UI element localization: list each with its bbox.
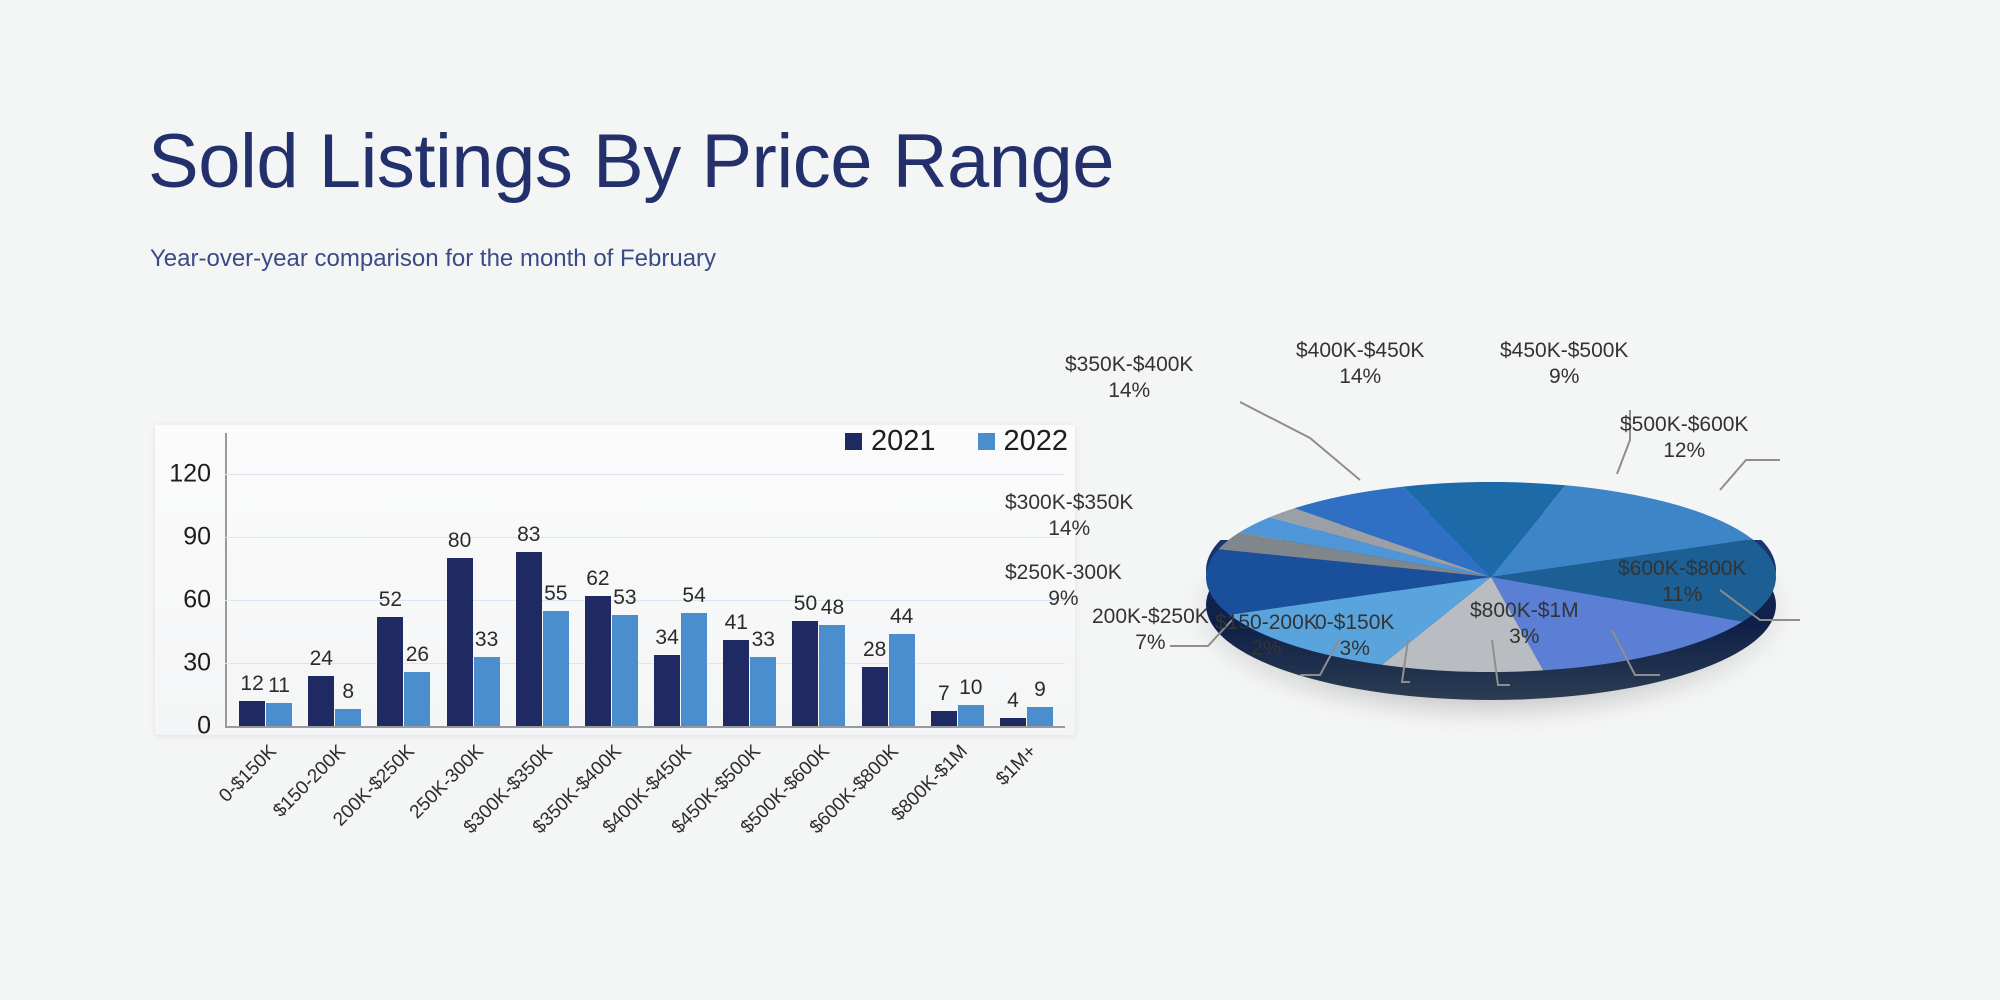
bar-2022[interactable]: 33 [474,657,500,726]
bar-group: 5226 [369,443,438,726]
bar-chart-plot-area: 0306090120 12112485226803383556253345441… [225,443,1065,728]
legend-item-2021[interactable]: 2021 [845,425,936,458]
bar-value-label: 53 [613,586,636,610]
pie-slice-label-name: $350K-$400K [1065,353,1193,376]
bar-2022[interactable]: 9 [1027,707,1053,726]
bar-2021[interactable]: 83 [516,552,542,726]
bar-2021[interactable]: 28 [862,667,888,726]
pie-slice-label-percent: 14% [1296,364,1424,390]
bar-value-label: 54 [682,584,705,608]
bar-value-label: 62 [586,567,609,591]
bar-value-label: 52 [379,588,402,612]
bar-2022[interactable]: 48 [819,625,845,726]
slide-canvas: Sold Listings By Price Range Year-over-y… [0,0,2000,1000]
pie-slice-label-percent: 11% [1618,582,1746,608]
bar-2021[interactable]: 62 [585,596,611,726]
x-axis-label-cell: $1M+ [992,735,1061,855]
bar-group: 8033 [439,443,508,726]
pie-slice-label-name: $800K-$1M [1470,599,1579,622]
bar-2022[interactable]: 10 [958,705,984,726]
pie-slice-label-name: $250K-300K [1005,561,1122,584]
pie-slice-label: $600K-$800K11% [1618,556,1746,608]
pie-slice-label-percent: 3% [1470,624,1579,650]
bar-2021[interactable]: 4 [1000,718,1026,726]
bar-group: 6253 [577,443,646,726]
page-title: Sold Listings By Price Range [148,118,1114,206]
bar-group: 248 [300,443,369,726]
bar-2021[interactable]: 34 [654,655,680,726]
x-axis-label: 0-$150K [215,741,281,807]
bar-value-label: 33 [475,628,498,652]
pie-slice-label-name: $500K-$600K [1620,413,1748,436]
bar-value-label: 48 [821,596,844,620]
bar-value-label: 50 [794,592,817,616]
bar-2021[interactable]: 52 [377,617,403,726]
bar-value-label: 83 [517,523,540,547]
pie-slice-label-name: $150-200K [1215,611,1318,634]
pie-slice-label-percent: 2% [1215,636,1318,662]
pie-slice-label: $400K-$450K14% [1296,338,1424,390]
bar-groups: 1211248522680338355625334544133504828447… [231,443,1061,726]
y-axis-tick-label: 30 [183,649,211,678]
x-axis-label-cell: $800K-$1M [923,735,992,855]
page-subtitle: Year-over-year comparison for the month … [150,245,716,273]
pie-slice-label-percent: 9% [1500,364,1628,390]
bar-value-label: 33 [752,628,775,652]
bar-value-label: 7 [938,682,950,706]
pie-slice-label-percent: 12% [1620,438,1748,464]
bar-value-label: 9 [1034,678,1046,702]
y-axis-tick-label: 60 [183,586,211,615]
bar-value-label: 44 [890,605,913,629]
bar-2021[interactable]: 41 [723,640,749,726]
bar-group: 3454 [646,443,715,726]
bar-group: 4133 [715,443,784,726]
bar-2022[interactable]: 26 [404,672,430,727]
legend-swatch-icon-2022 [978,433,995,450]
y-axis-tick-label: 90 [183,523,211,552]
pie-slice-label: $250K-300K9% [1005,560,1122,612]
pie-slice-label-name: $400K-$450K [1296,339,1424,362]
bar-group: 1211 [231,443,300,726]
bar-2022[interactable]: 53 [612,615,638,726]
pie-slice-label-percent: 9% [1005,586,1122,612]
bar-value-label: 28 [863,638,886,662]
x-axis-label: $1M+ [992,741,1042,791]
bar-2021[interactable]: 12 [239,701,265,726]
legend-swatch-icon-2021 [845,433,862,450]
pie-slice-label: $350K-$400K14% [1065,352,1193,404]
bar-group: 5048 [784,443,853,726]
legend-item-2022[interactable]: 2022 [978,425,1069,458]
bar-value-label: 55 [544,582,567,606]
bar-value-label: 8 [342,680,354,704]
bar-value-label: 80 [448,529,471,553]
bar-value-label: 10 [959,676,982,700]
bar-chart-legend: 2021 2022 [845,425,1068,458]
y-axis-tick-label: 120 [169,460,211,489]
pie-slice-label-name: $450K-$500K [1500,339,1628,362]
bar-2022[interactable]: 33 [750,657,776,726]
bar-value-label: 34 [655,626,678,650]
bar-value-label: 4 [1007,689,1019,713]
pie-slice-label-percent: 14% [1065,378,1193,404]
bar-group: 710 [923,443,992,726]
pie-slice-label-percent: 14% [1005,516,1133,542]
pie-slice-label: $500K-$600K12% [1620,412,1748,464]
bar-2021[interactable]: 24 [308,676,334,726]
x-axis-labels: 0-$150K$150-200K200K-$250K250K-300K$300K… [231,735,1061,855]
pie-slice-label-name: $300K-$350K [1005,491,1133,514]
bar-2022[interactable]: 55 [543,611,569,726]
bar-2022[interactable]: 11 [266,703,292,726]
bar-group: 2844 [854,443,923,726]
bar-2022[interactable]: 8 [335,709,361,726]
bar-2021[interactable]: 80 [447,558,473,726]
legend-label-2022: 2022 [1004,425,1069,458]
pie-slice-label: $150-200K2% [1215,610,1318,662]
pie-slice-label: $800K-$1M3% [1470,598,1579,650]
bar-group: 8355 [508,443,577,726]
legend-label-2021: 2021 [871,425,936,458]
pie-slice-label-percent: 3% [1315,636,1394,662]
bar-value-label: 12 [240,672,263,696]
bar-2021[interactable]: 7 [931,711,957,726]
pie-slice-label-name: $600K-$800K [1618,557,1746,580]
bar-value-label: 26 [406,643,429,667]
y-axis-line [225,433,227,728]
bar-value-label: 11 [268,674,290,698]
pie-slice-label-percent: 7% [1092,630,1209,656]
bar-2022[interactable]: 44 [889,634,915,726]
bar-2021[interactable]: 50 [792,621,818,726]
pie-slice-label: $300K-$350K14% [1005,490,1133,542]
y-axis-tick-label: 0 [197,712,211,741]
x-axis-line [225,726,1065,728]
pie-slice-label-name: 0-$150K [1315,611,1394,634]
pie-slice-label: $450K-$500K9% [1500,338,1628,390]
bar-value-label: 41 [725,611,748,635]
pie-slice-label: 0-$150K3% [1315,610,1394,662]
bar-2022[interactable]: 54 [681,613,707,726]
bar-value-label: 24 [310,647,333,671]
